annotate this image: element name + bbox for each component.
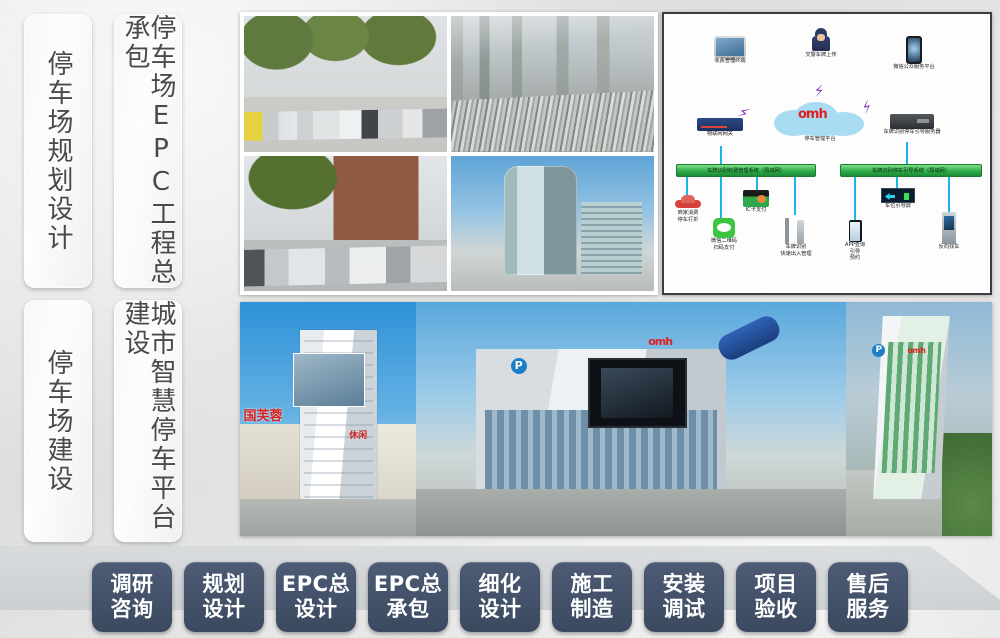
led-guide-screen-icon — [881, 188, 915, 203]
poster-root: 停车场规划设计 停车场EPC工程总承包 停车场建设 城市智慧停车平台建设 ⚡ ⚡… — [0, 0, 1000, 638]
led-guidance-screen-device: 车位引导屏 — [878, 188, 918, 210]
sidebar-card-label: 停车场规划设计 — [45, 50, 71, 253]
ic-card-icon — [743, 190, 769, 207]
iot-gateway-node: 物联网网关 — [682, 118, 758, 138]
ic-card-payment-device: IC卡支付 — [736, 190, 776, 214]
process-step-bar: 调研 咨询 规划 设计 EPC总 设计 EPC总 承包 细化 设计 施工 制造 … — [0, 556, 1000, 638]
wechat-public-service-node: 微信公众服务平台 — [876, 36, 952, 71]
device-label: IC卡支付 — [736, 207, 776, 214]
node-label: 物联网网关 — [682, 131, 758, 138]
ground-plane — [240, 499, 416, 536]
sidebar-card-smart-parking-platform[interactable]: 城市智慧停车平台建设 — [114, 300, 182, 542]
photo-grid-panel — [240, 12, 658, 295]
connector-line — [756, 177, 758, 191]
connector-line — [906, 142, 908, 164]
landscape-greenery — [942, 433, 992, 536]
photo-aerial-city-parking — [451, 16, 654, 152]
sidebar-card-label: 停车场建设 — [45, 349, 71, 494]
device-label: 车位引导屏 — [878, 203, 918, 210]
wechat-icon — [713, 218, 735, 238]
process-step-after-sales[interactable]: 售后 服务 — [828, 562, 908, 632]
photo-street-parking-lot — [244, 16, 447, 152]
render-parking-garage-facade: omh P — [416, 302, 846, 536]
high-tower-structure — [873, 316, 950, 499]
sidebar-card-parking-planning-design[interactable]: 停车场规划设计 — [24, 14, 92, 288]
process-step-planning-design[interactable]: 规划 设计 — [184, 562, 264, 632]
sign-text-right: 休闲 — [349, 428, 367, 441]
omh-logo: omh — [907, 346, 925, 355]
process-step-detailed-design[interactable]: 细化 设计 — [460, 562, 540, 632]
device-label: 车牌识别快速出入管理 — [774, 244, 818, 257]
wechat-qr-payment-device: 微信二维码扫码支付 — [702, 218, 746, 251]
cloud-platform-label: 停车管理平台 — [772, 136, 868, 143]
connector-line — [948, 177, 950, 213]
sign-text-left: 国芙蓉 — [244, 405, 283, 424]
render-parking-tower: 国芙蓉 休闲 — [240, 302, 416, 536]
billboard — [293, 353, 365, 406]
connector-line — [794, 177, 796, 215]
gateway-device-icon — [697, 118, 743, 131]
sidebar-card-label: 停车场EPC工程总承包 — [122, 14, 174, 288]
node-label: 收费管理终端 — [698, 58, 762, 65]
render-aerial-parking-tower: P omh — [846, 302, 992, 536]
device-label: APP查询引导预约 — [834, 242, 876, 262]
omh-logo: omh — [648, 335, 672, 348]
process-step-installation[interactable]: 安装 调试 — [644, 562, 724, 632]
device-label: 反向找车 — [930, 244, 968, 251]
connector-line — [686, 177, 688, 195]
server-icon — [890, 114, 934, 129]
architectural-rendering-panel: 国芙蓉 休闲 omh P P omh — [240, 302, 992, 536]
red-car-icon — [675, 194, 701, 210]
connector-line — [720, 177, 722, 219]
connector-line — [854, 177, 856, 221]
process-step-survey-consult[interactable]: 调研 咨询 — [92, 562, 172, 632]
process-step-epc-contracting[interactable]: EPC总 承包 — [368, 562, 448, 632]
app-query-guidance-device: APP查询引导预约 — [834, 220, 876, 262]
photo-glass-office-tower — [451, 156, 654, 292]
barrier-gate-icon — [783, 214, 809, 244]
process-step-epc-design[interactable]: EPC总 设计 — [276, 562, 356, 632]
police-officer-icon — [811, 28, 831, 52]
system-bar-toll-management: 车牌识别收费管理系统（局域网） — [676, 164, 816, 177]
cloud-icon: omh — [772, 100, 868, 136]
node-label: 微信公众服务平台 — [876, 64, 952, 71]
node-label: 交警车牌上传 — [790, 52, 852, 59]
monitor-icon — [714, 36, 746, 58]
smartphone-icon — [906, 36, 922, 64]
process-step-construction[interactable]: 施工 制造 — [552, 562, 632, 632]
node-label: 车牌识别停车引导服务器 — [864, 129, 960, 136]
system-bar-parking-guidance: 车牌识别停车引导系统（局域网） — [840, 164, 982, 177]
lightning-connector-icon: ⚡ — [813, 83, 826, 99]
led-billboard — [588, 358, 687, 428]
toll-management-terminal-node: 收费管理终端 — [698, 36, 762, 65]
blue-car-graphic — [715, 313, 784, 364]
parking-p-mark: P — [511, 358, 527, 374]
system-architecture-diagram: ⚡ ⚡ ⚡ omh 停车管理平台 收费管理终端 交警车牌上传 微信公众服务平台 — [662, 12, 992, 295]
lpr-fast-entry-device: 车牌识别快速出入管理 — [774, 214, 818, 257]
process-step-acceptance[interactable]: 项目 验收 — [736, 562, 816, 632]
kiosk-icon — [942, 212, 956, 244]
road-plane — [416, 489, 846, 536]
sidebar-card-parking-construction[interactable]: 停车场建设 — [24, 300, 92, 542]
connector-line — [720, 146, 722, 164]
traffic-police-upload-node: 交警车牌上传 — [790, 28, 852, 59]
cloud-platform-node: omh 停车管理平台 — [772, 100, 868, 143]
lpr-guidance-server-node: 车牌识别停车引导服务器 — [864, 114, 960, 136]
app-phone-icon — [849, 220, 862, 242]
omh-logo: omh — [798, 107, 827, 122]
photo-brick-building-lot — [244, 156, 447, 292]
device-label: 微信二维码扫码支付 — [702, 238, 746, 251]
reverse-car-finding-device: 反向找车 — [930, 212, 968, 251]
sidebar-card-parking-epc-contracting[interactable]: 停车场EPC工程总承包 — [114, 14, 182, 288]
sidebar-card-label: 城市智慧停车平台建设 — [122, 300, 174, 542]
